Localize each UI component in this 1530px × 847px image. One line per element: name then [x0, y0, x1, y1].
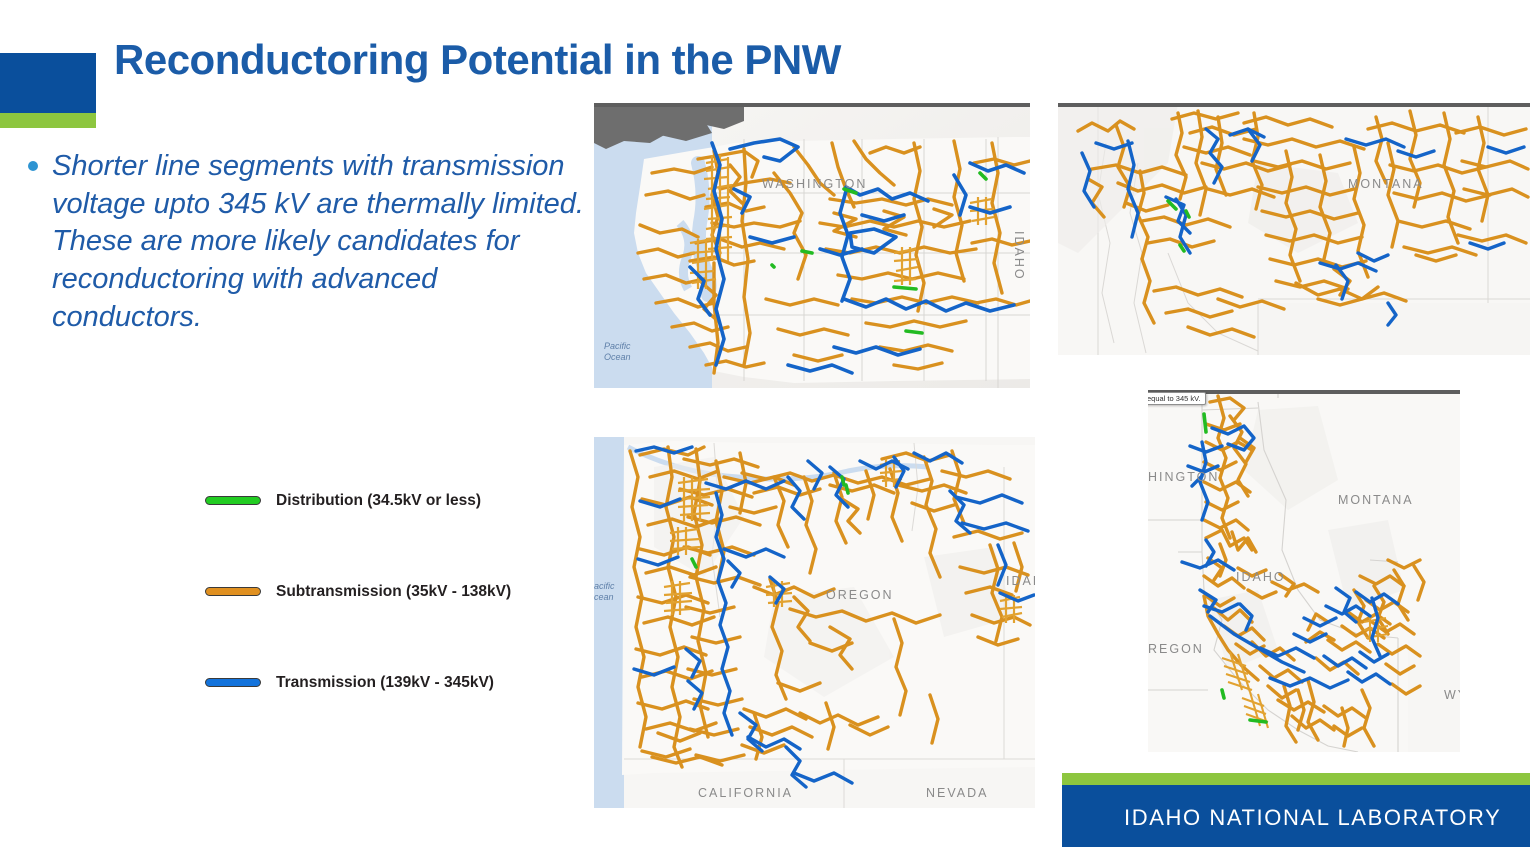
page-title: Reconductoring Potential in the PNW [114, 36, 1064, 84]
map-topbar [594, 103, 1030, 107]
bullet-dot-icon [28, 161, 38, 171]
legend-label-distribution: Distribution (34.5kV or less) [276, 492, 481, 510]
legend-item-transmission: Transmission (139kV - 345kV) [205, 637, 585, 728]
bullet-text: Shorter line segments with transmission … [52, 148, 595, 336]
oregon-map[interactable]: OREGON IDAHO CALIFORNIA NEVADA acific ce… [594, 437, 1035, 808]
legend-item-distribution: Distribution (34.5kV or less) [205, 455, 585, 546]
header-accent-block-green [0, 113, 96, 128]
washington-map[interactable]: WASHINGTON IDAHO Pacific Ocean [594, 103, 1030, 388]
header-accent-block-blue [0, 53, 96, 113]
map-topbar [1058, 103, 1530, 107]
idaho-map[interactable]: equal to 345 kV. IDAHO MONTANA HINGTON R… [1148, 390, 1460, 752]
bullet-list: Shorter line segments with transmission … [20, 148, 595, 336]
list-item: Shorter line segments with transmission … [20, 148, 595, 336]
inl-logo-text: IDAHO NATIONAL LABORATORY [1124, 805, 1501, 831]
legend-swatch-orange [205, 587, 261, 596]
montana-map[interactable]: MONTANA [1058, 103, 1530, 355]
inl-logo-green-bar [1062, 773, 1530, 785]
map-legend: Distribution (34.5kV or less) Subtransmi… [205, 455, 585, 728]
legend-item-subtransmission: Subtransmission (35kV - 138kV) [205, 546, 585, 637]
legend-swatch-blue [205, 678, 261, 687]
legend-swatch-green [205, 496, 261, 505]
inl-logo: IDAHO NATIONAL LABORATORY [1062, 773, 1530, 847]
legend-label-transmission: Transmission (139kV - 345kV) [276, 674, 494, 692]
map-tooltip: equal to 345 kV. [1148, 392, 1206, 405]
legend-label-subtransmission: Subtransmission (35kV - 138kV) [276, 583, 511, 601]
